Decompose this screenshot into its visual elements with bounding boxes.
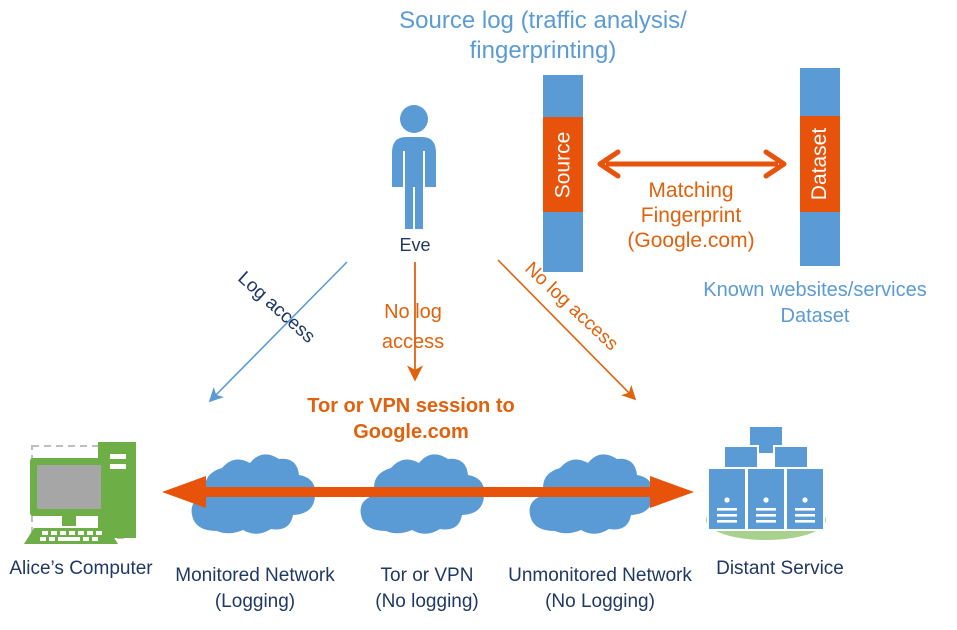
dataset-bar: Dataset [800, 68, 840, 266]
desktop-computer-icon [18, 436, 154, 548]
alice-computer-label: Alice’s Computer [2, 557, 160, 581]
eve-label: Eve [360, 234, 470, 257]
source-bar-segment: Source [543, 117, 583, 212]
session-title: Tor or VPN session to Google.com [282, 393, 540, 445]
session-double-arrow [160, 472, 696, 512]
no-log-access-right-arrow [492, 256, 652, 411]
matching-fingerprint-arrow [592, 148, 792, 180]
server-cluster-icon [696, 420, 836, 546]
dataset-caption: Known websites/services Dataset [672, 277, 957, 329]
source-log-title: Source log (traffic analysis/ fingerprin… [378, 6, 708, 66]
dataset-bar-segment: Dataset [800, 116, 840, 212]
network-label-unmonitored: Unmonitored Network (No Logging) [500, 563, 700, 614]
source-bar: Source [543, 75, 583, 272]
log-access-arrow [195, 258, 355, 413]
dataset-bar-label: Dataset [808, 128, 832, 200]
source-bar-label: Source [551, 131, 575, 198]
diagram-canvas: Source log (traffic analysis/ fingerprin… [0, 0, 957, 630]
network-label-tor-vpn: Tor or VPN (No logging) [352, 563, 502, 614]
network-label-monitored: Monitored Network (Logging) [160, 563, 350, 614]
person-icon [382, 105, 446, 230]
distant-service-label: Distant Service [690, 557, 870, 581]
matching-fingerprint-label: Matching Fingerprint (Google.com) [596, 178, 786, 254]
no-log-access-center-label: No log access [357, 297, 469, 357]
